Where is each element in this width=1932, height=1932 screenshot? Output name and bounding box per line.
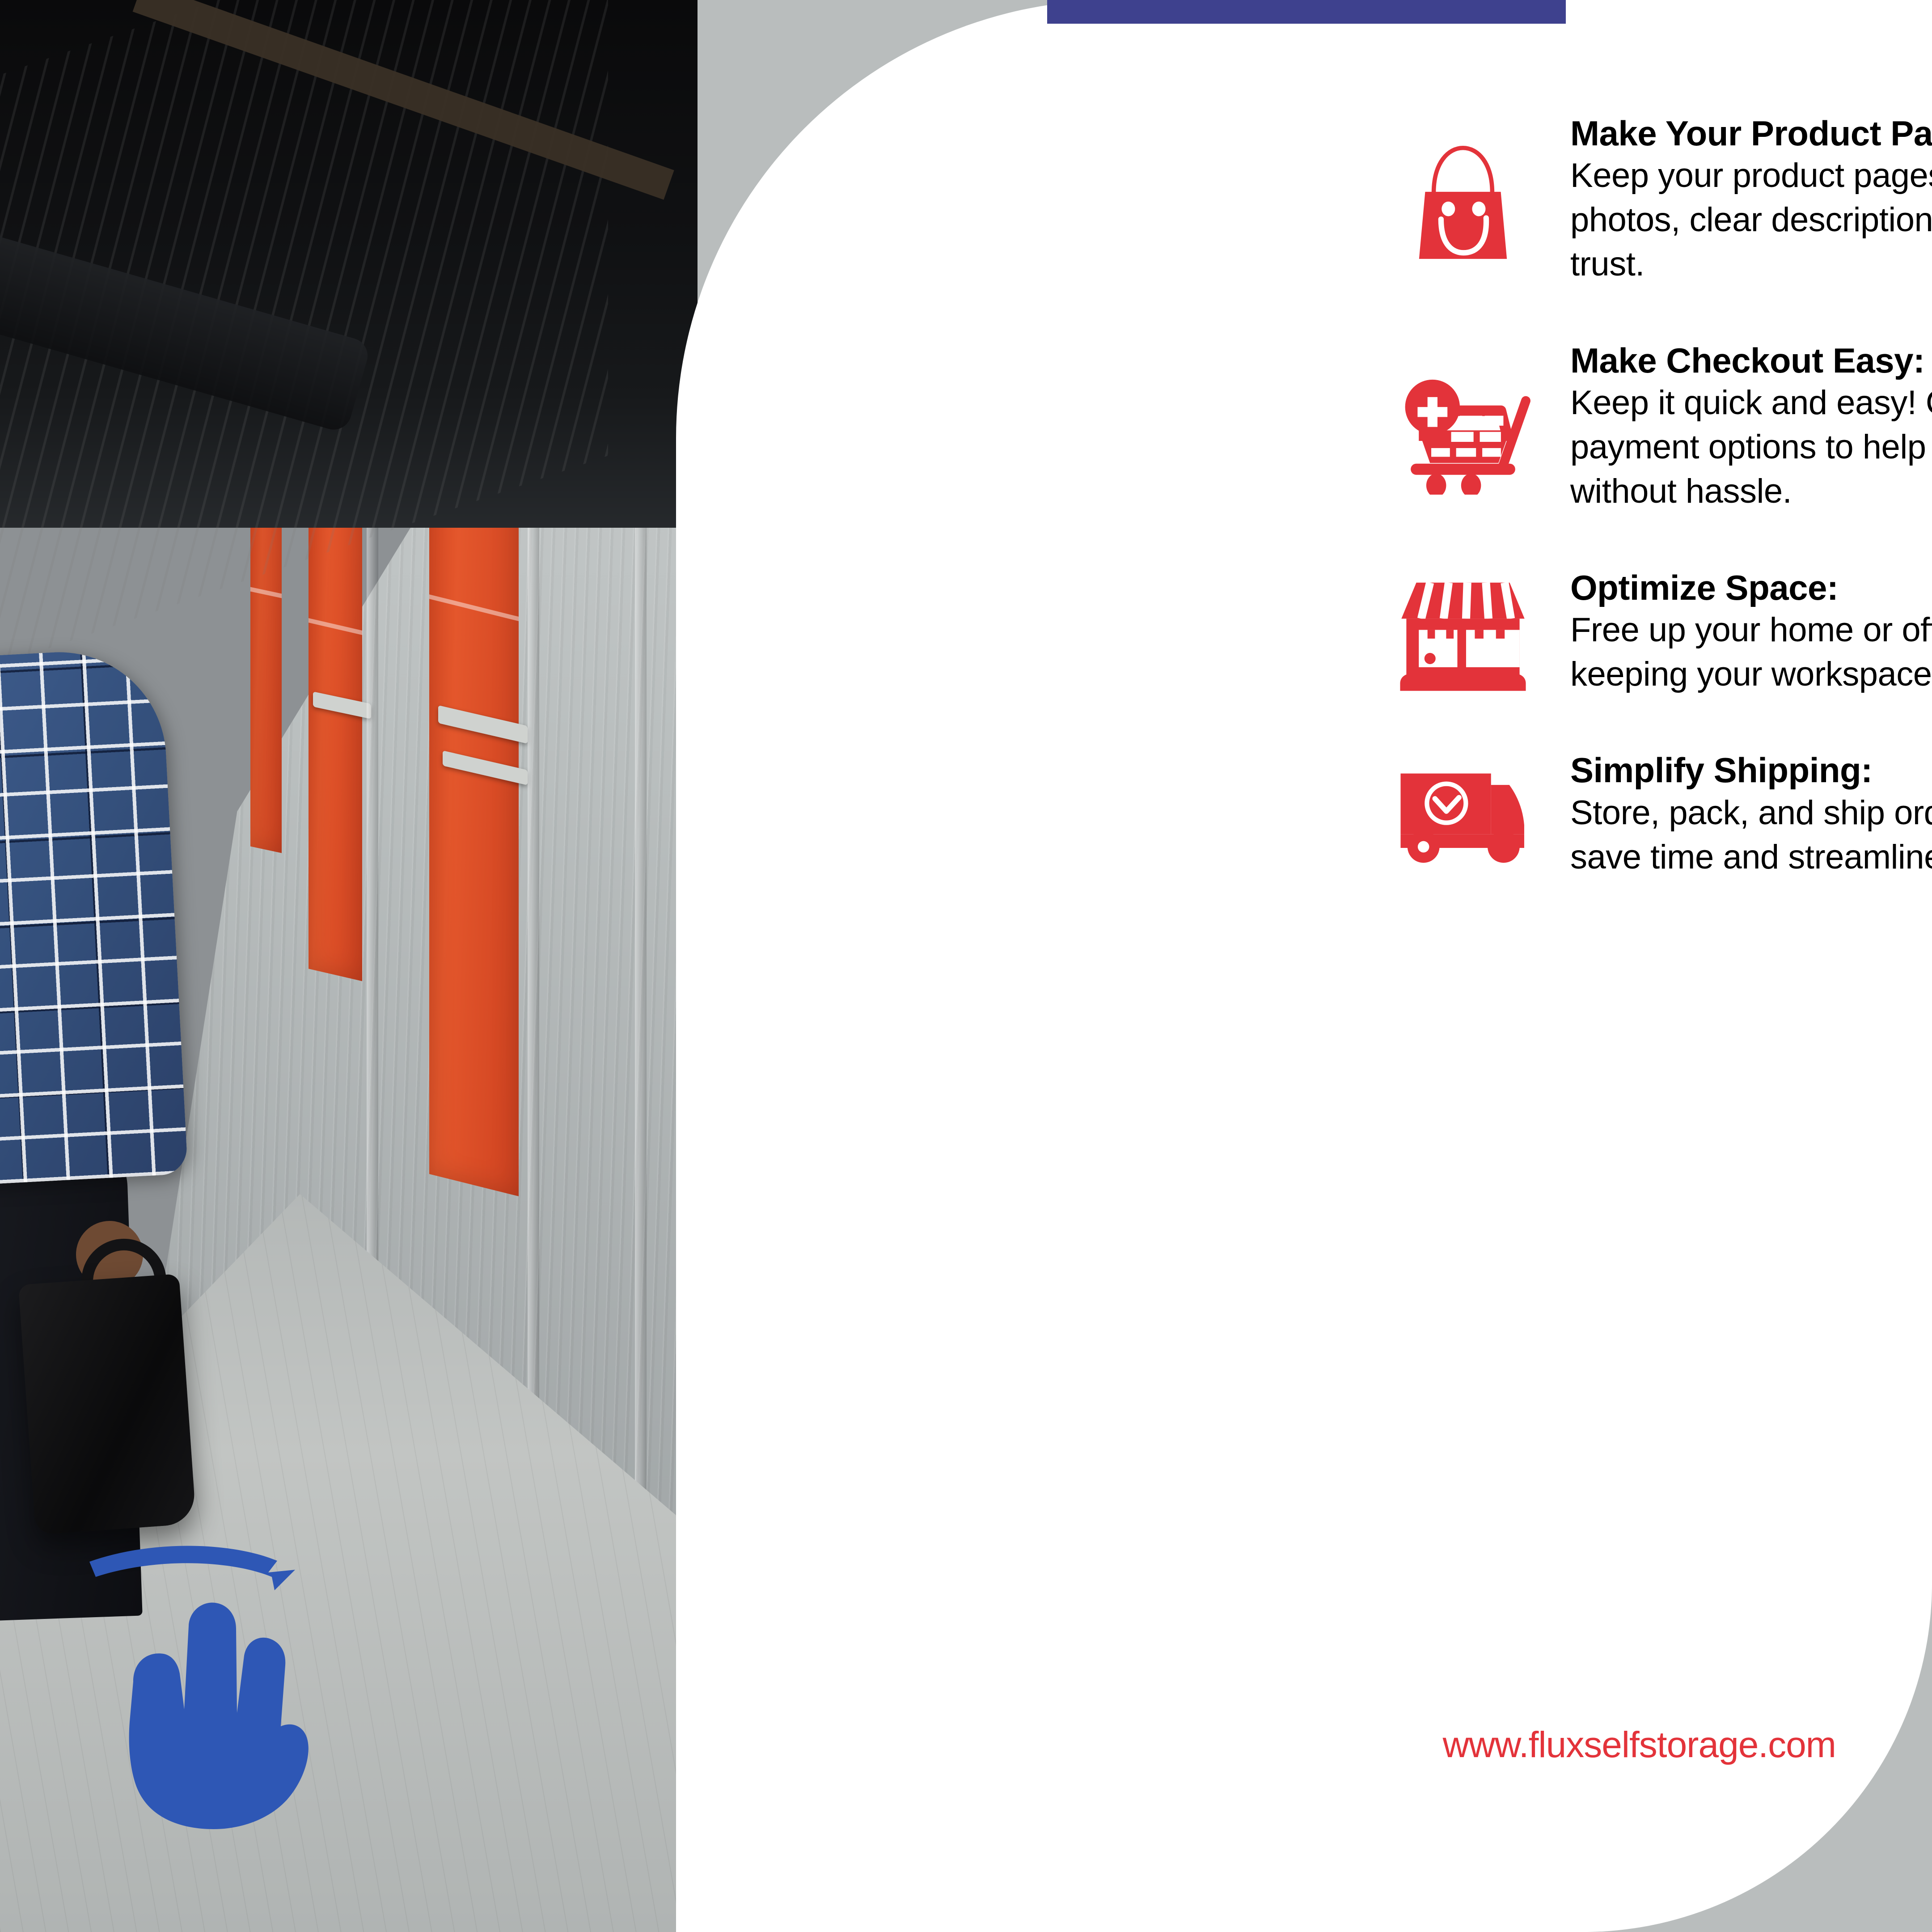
navy-accent-bar	[1047, 0, 1566, 24]
tip-block-product-pages: Make Your Product Pages Shine: Keep your…	[1570, 114, 1932, 287]
tip-body: Store, pack, and ship orders directly fr…	[1570, 791, 1932, 880]
tip-title: Simplify Shipping:	[1570, 751, 1932, 790]
tip-block-optimize-space: Optimize Space: Free up your home or off…	[1570, 568, 1932, 697]
shopping-cart-plus-icon	[1391, 360, 1535, 495]
website-url[interactable]: www.fluxselfstorage.com	[676, 1724, 1836, 1766]
person-plaid-shirt	[0, 647, 188, 1187]
briefcase	[18, 1274, 196, 1535]
tip-title: Optimize Space:	[1570, 568, 1932, 607]
content-card: Make Your Product Pages Shine: Keep your…	[676, 0, 1932, 1932]
tip-body: Keep your product pages clean and welcom…	[1570, 154, 1932, 286]
tip-title: Make Checkout Easy:	[1570, 341, 1932, 380]
tip-block-shipping: Simplify Shipping: Store, pack, and ship…	[1570, 751, 1932, 879]
delivery-truck-icon	[1391, 748, 1535, 882]
tip-body: Free up your home or office by storing i…	[1570, 608, 1932, 697]
tip-block-checkout: Make Checkout Easy: Keep it quick and ea…	[1570, 341, 1932, 514]
shopping-bag-icon	[1391, 133, 1535, 267]
tip-title: Make Your Product Pages Shine:	[1570, 114, 1932, 153]
two-finger-swipe-gesture-icon	[85, 1534, 317, 1838]
tips-list: Make Your Product Pages Shine: Keep your…	[1570, 114, 1932, 934]
tip-body: Keep it quick and easy! Offer guest chec…	[1570, 381, 1932, 513]
storefront-icon	[1391, 565, 1535, 699]
